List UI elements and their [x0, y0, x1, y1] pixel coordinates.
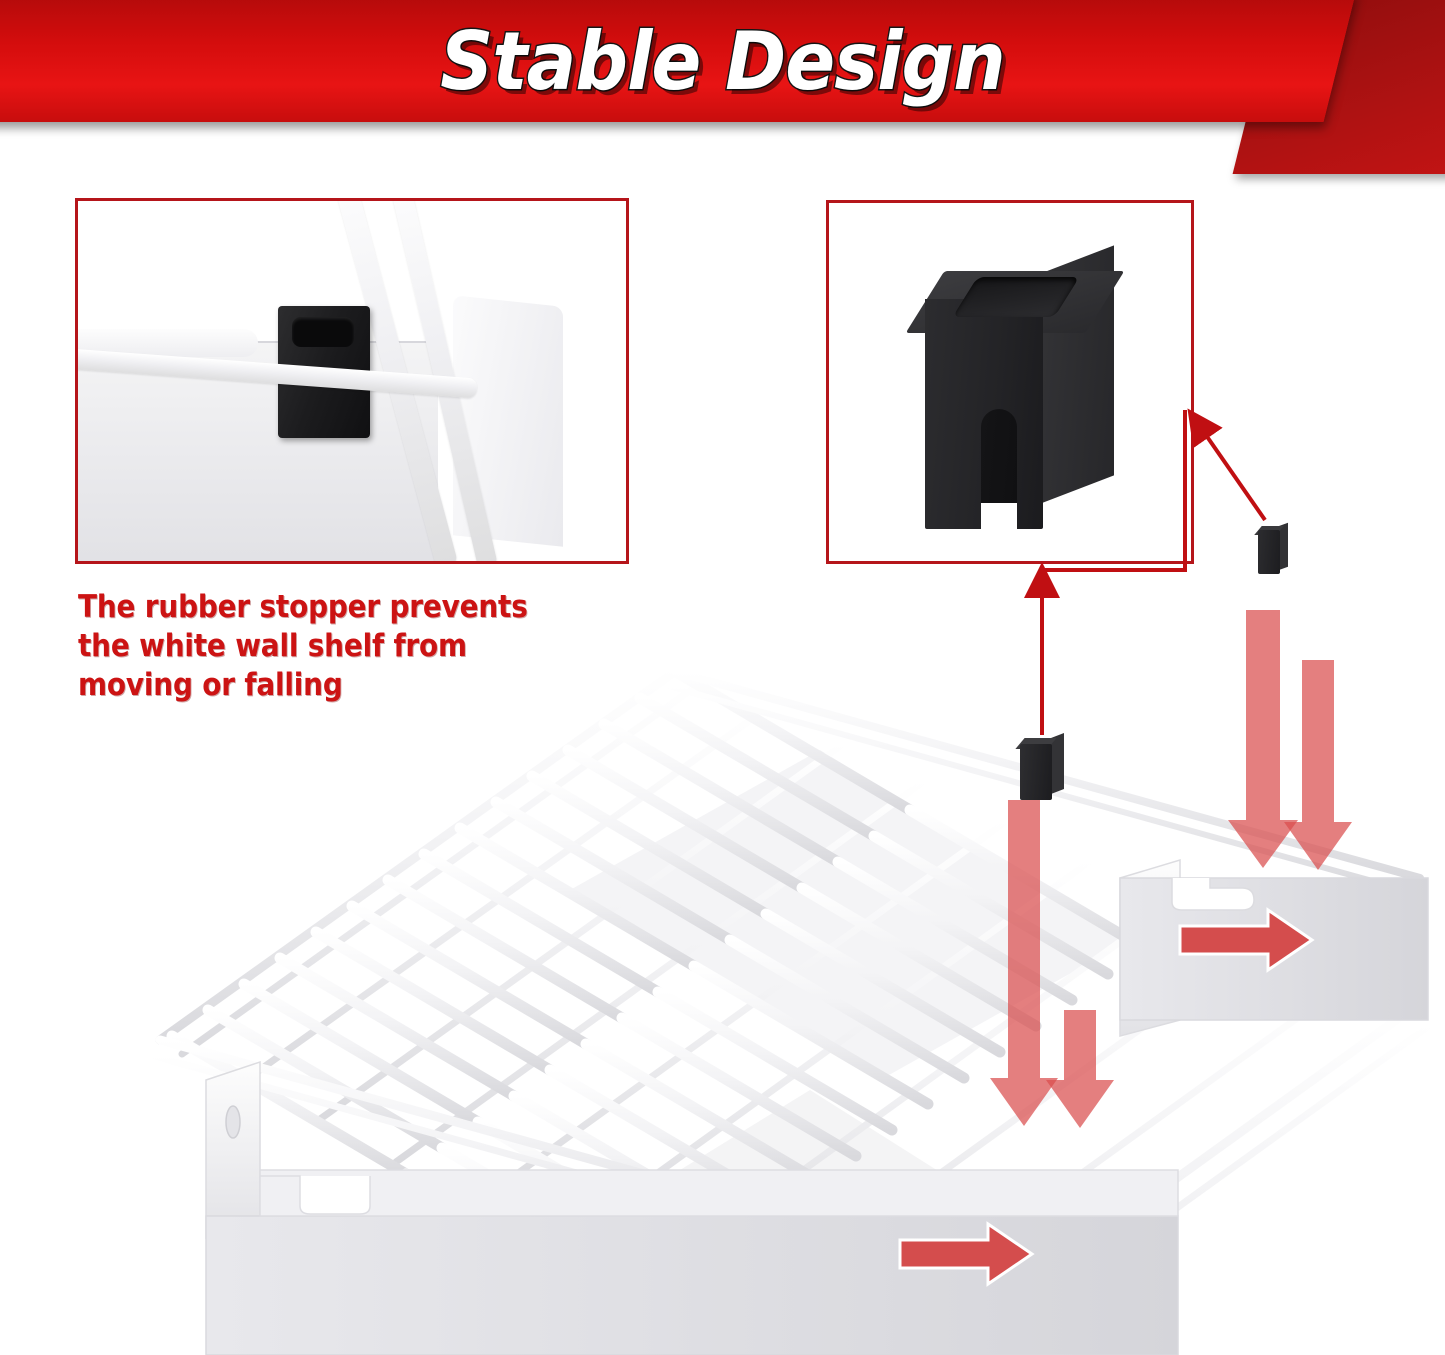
stopper-on-shelf	[1020, 738, 1066, 800]
page-title: Stable Design	[58, 0, 1387, 122]
motion-arrow-down-rear-2	[1284, 660, 1352, 870]
motion-arrow-down-front-2	[1046, 1010, 1114, 1128]
rubber-stopper-installed-photo	[75, 198, 629, 564]
stopper-on-shelf-front	[1020, 744, 1052, 800]
infographic-page: Stable Design The rubber stopper prevent…	[0, 0, 1445, 1355]
callout-line-loose-stopper	[1192, 415, 1265, 520]
stopper-slot-opening	[981, 503, 1017, 529]
rubber-stopper-socket	[292, 317, 354, 347]
wall-shelf-illustration	[120, 610, 1430, 1355]
header-banner: Stable Design	[0, 0, 1445, 175]
motion-arrow-down-rear-1	[1228, 610, 1298, 868]
loose-rubber-stopper	[1258, 526, 1288, 574]
rubber-stopper-product-photo	[826, 200, 1194, 564]
loose-stopper-front	[1258, 530, 1280, 574]
